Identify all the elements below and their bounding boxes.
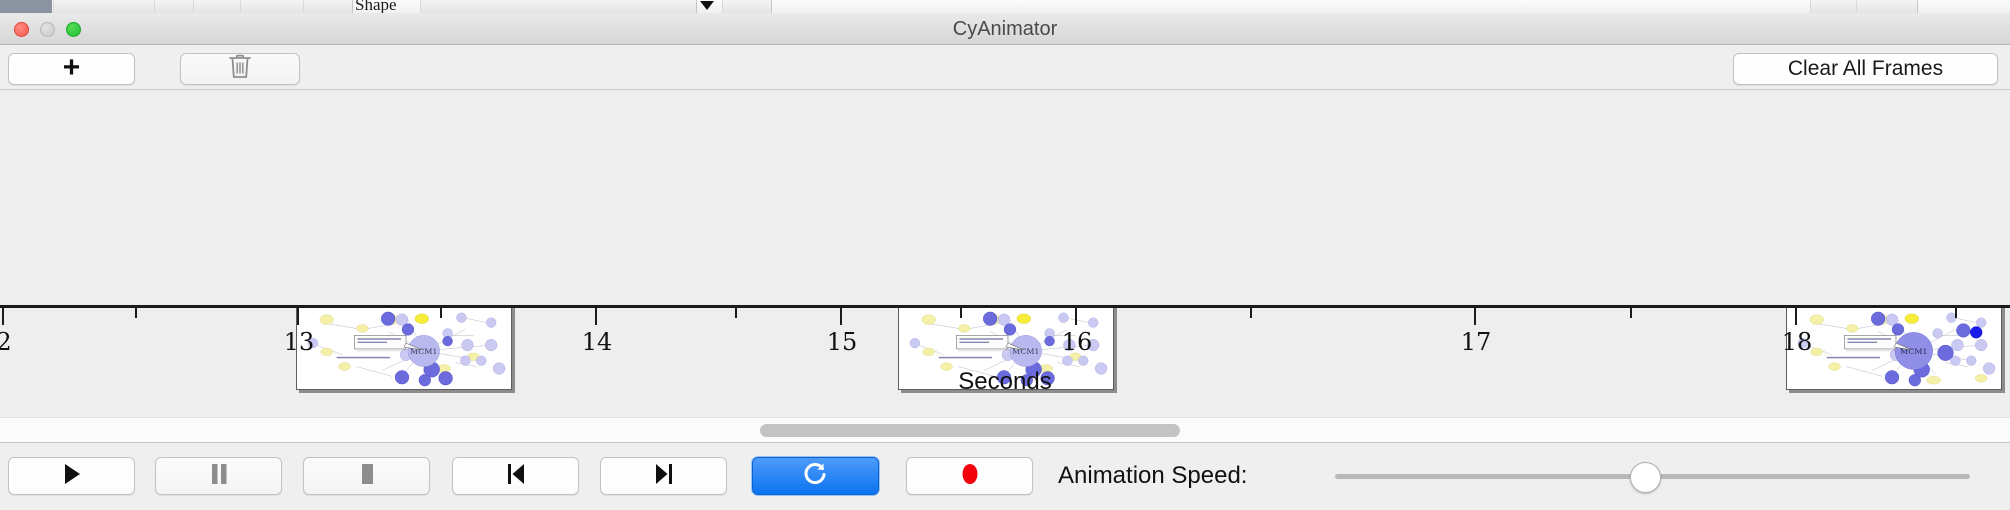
background-cell	[53, 0, 155, 13]
axis-tick-major	[297, 308, 299, 325]
record-button[interactable]	[906, 457, 1033, 495]
axis-tick-minor	[1630, 308, 1632, 318]
loop-button[interactable]	[752, 457, 879, 495]
background-cell	[420, 0, 697, 13]
axis-tick-minor	[735, 308, 737, 318]
background-cell	[1810, 0, 1857, 13]
background-window-label: Shape	[355, 0, 397, 14]
pause-button[interactable]	[155, 457, 282, 495]
skip-forward-icon	[652, 462, 676, 491]
axis-tick-minor	[135, 308, 137, 318]
cyanimator-window: Shape CyAnimator + Clear All Frames	[0, 0, 2010, 510]
background-cell	[1856, 0, 1918, 13]
axis-tick-major	[595, 308, 597, 325]
timeline-panel[interactable]: MCM1	[0, 90, 2010, 417]
axis-tick-label: 14	[582, 328, 613, 356]
caret-down-icon	[700, 1, 714, 10]
stop-button[interactable]	[303, 457, 430, 495]
axis-tick-major	[1795, 308, 1797, 325]
axis-tick-minor	[1250, 308, 1252, 318]
background-cell	[722, 0, 772, 13]
record-icon	[959, 461, 981, 492]
title-bar: CyAnimator	[0, 13, 2010, 45]
play-icon	[61, 462, 83, 491]
skip-back-icon	[504, 462, 528, 491]
background-cell	[240, 0, 304, 13]
axis-tick-minor	[1955, 308, 1957, 318]
axis-tick-label: 16	[1062, 328, 1093, 356]
slider-handle[interactable]	[1630, 462, 1661, 493]
axis-tick-label: 15	[827, 328, 858, 356]
axis-tick-major	[1474, 308, 1476, 325]
axis-tick-minor	[960, 308, 962, 318]
background-selected-cell	[0, 0, 52, 13]
toolbar: + Clear All Frames	[0, 45, 2010, 90]
background-window-strip: Shape	[0, 0, 2010, 14]
axis-tick-label: 18	[1782, 328, 1813, 356]
animation-speed-label: Animation Speed:	[1058, 457, 1247, 495]
axis-tick-label: 17	[1461, 328, 1492, 356]
pause-icon	[208, 462, 230, 491]
background-cell	[193, 0, 241, 13]
timeline-axis	[0, 305, 2010, 308]
loop-icon	[804, 461, 828, 492]
timeline-horizontal-scrollbar[interactable]	[0, 417, 2010, 443]
clear-all-frames-button[interactable]: Clear All Frames	[1733, 53, 1998, 85]
axis-title: Seconds	[0, 368, 2010, 396]
scrollbar-thumb[interactable]	[760, 424, 1180, 437]
axis-tick-major	[2, 308, 4, 325]
axis-tick-label: 2	[0, 328, 12, 356]
plus-icon: +	[63, 53, 81, 83]
axis-tick-major	[1075, 308, 1077, 325]
playback-toolbar: Animation Speed:	[0, 443, 2010, 510]
axis-tick-major	[840, 308, 842, 325]
axis-tick-label: 13	[284, 328, 315, 356]
window-title: CyAnimator	[0, 13, 2010, 45]
animation-speed-slider[interactable]	[1335, 457, 1970, 495]
skip-to-end-button[interactable]	[600, 457, 727, 495]
add-frame-button[interactable]: +	[8, 53, 135, 85]
axis-tick-minor	[440, 308, 442, 318]
delete-frame-button[interactable]	[180, 53, 300, 85]
stop-icon	[356, 462, 378, 491]
background-cell	[303, 0, 353, 13]
background-cell	[154, 0, 194, 13]
play-button[interactable]	[8, 457, 135, 495]
trash-icon	[228, 53, 252, 85]
skip-to-start-button[interactable]	[452, 457, 579, 495]
